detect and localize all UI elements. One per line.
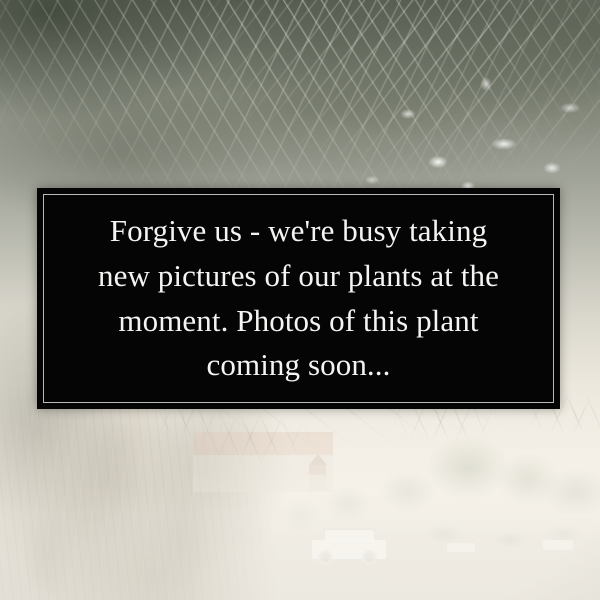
notice-message: Forgive us - we're busy taking new pictu… <box>84 209 513 388</box>
notice-panel: Forgive us - we're busy taking new pictu… <box>37 188 560 409</box>
placeholder-photo-card: Forgive us - we're busy taking new pictu… <box>0 0 600 600</box>
notice-panel-border: Forgive us - we're busy taking new pictu… <box>43 194 554 403</box>
